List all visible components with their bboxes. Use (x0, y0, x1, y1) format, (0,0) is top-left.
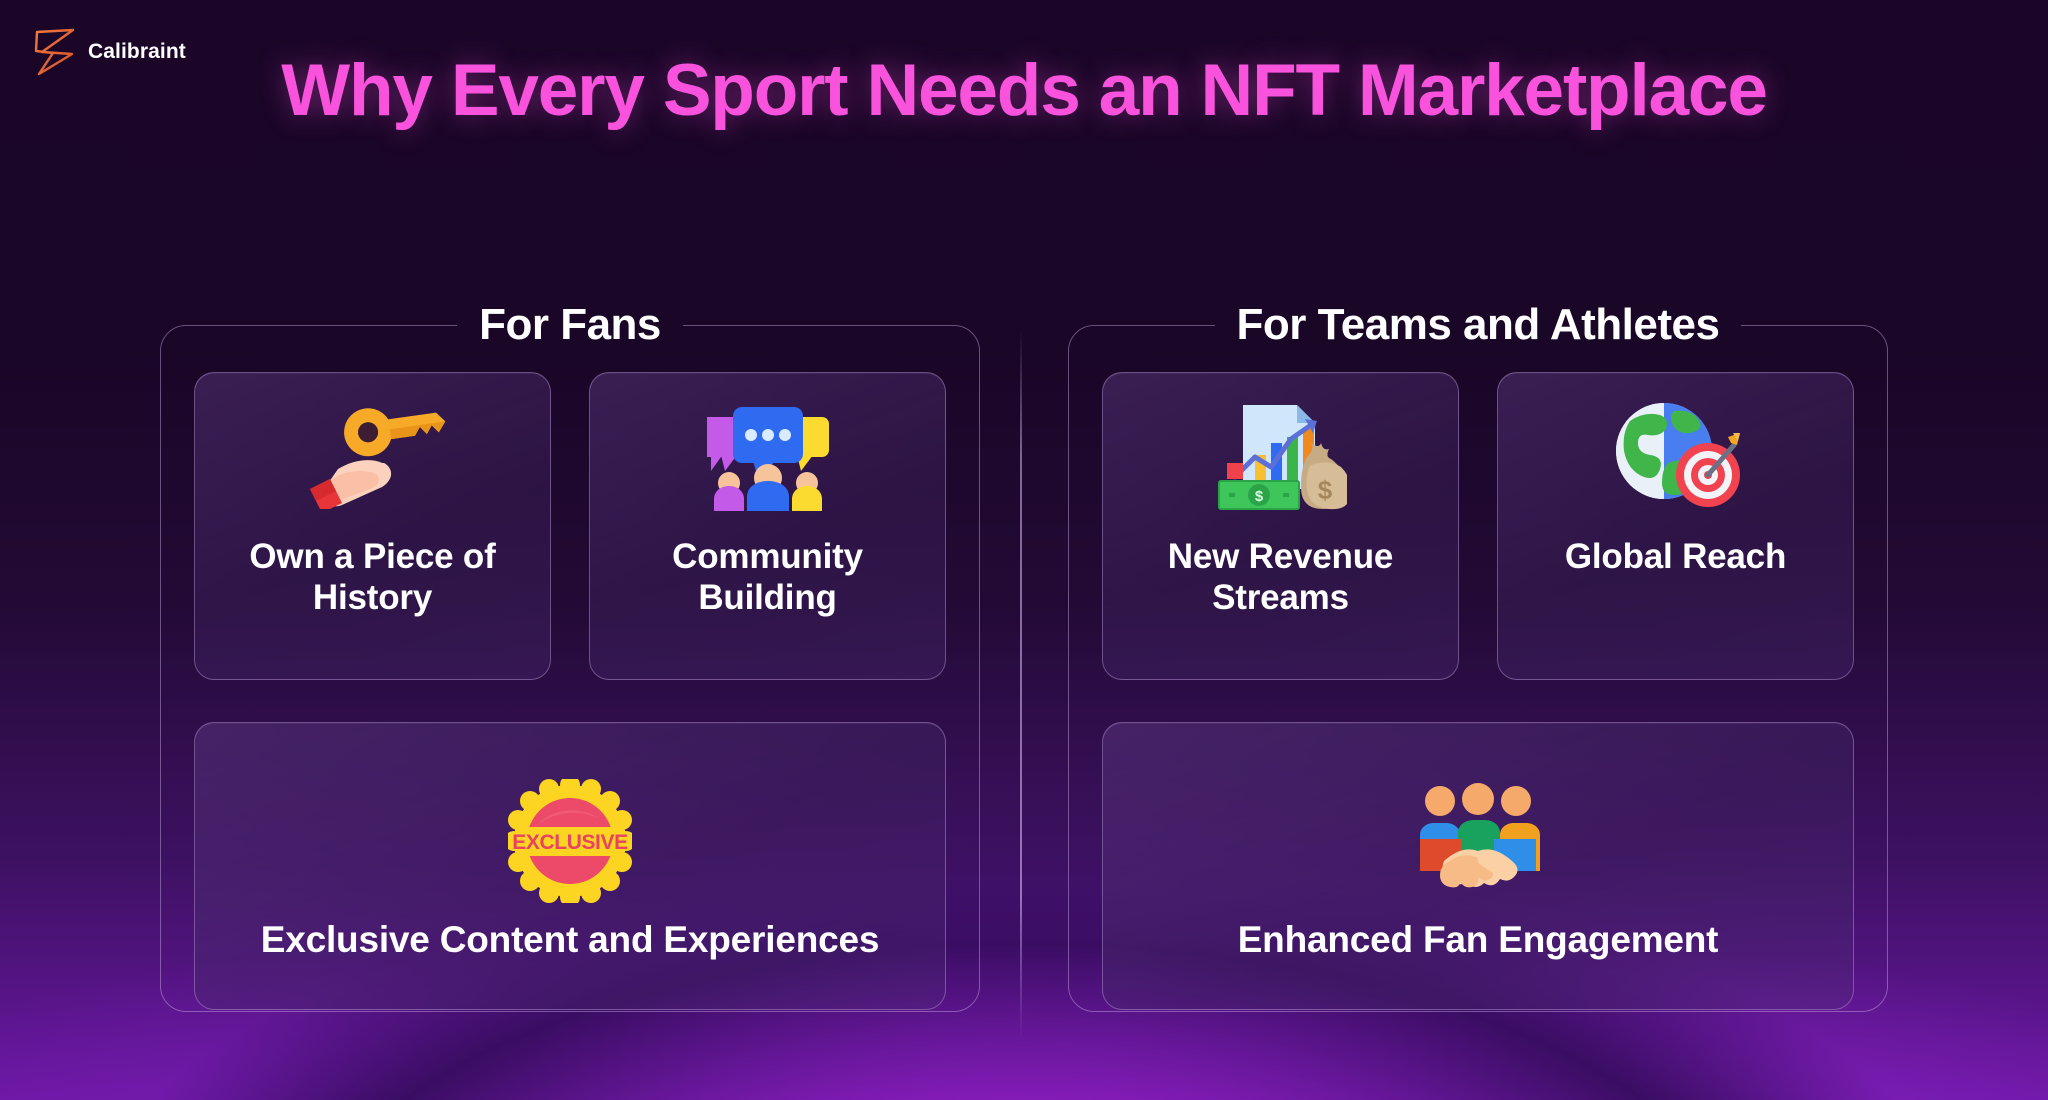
handshake-people-icon (1408, 777, 1548, 905)
card-label: Enhanced Fan Engagement (1238, 919, 1719, 962)
card-community-building[interactable]: Community Building (589, 372, 946, 680)
infographic-canvas: Calibraint Why Every Sport Needs an NFT … (0, 0, 2048, 1100)
svg-text:$: $ (1317, 475, 1332, 505)
panel-heading-for-fans: For Fans (457, 300, 683, 350)
card-enhanced-fan-engagement[interactable]: Enhanced Fan Engagement (1102, 722, 1854, 1010)
chart-money-icon: $ $ (1215, 399, 1347, 511)
for-fans-top-row: Own a Piece of History (187, 372, 953, 680)
card-new-revenue-streams[interactable]: $ $ New Revenue Streams (1102, 372, 1459, 680)
svg-text:EXCLUSIVE: EXCLUSIVE (512, 831, 628, 854)
card-label: Own a Piece of History (213, 537, 532, 618)
svg-text:$: $ (1254, 488, 1263, 505)
panels-container: For Fans (0, 300, 2048, 1060)
card-label: Exclusive Content and Experiences (261, 919, 880, 962)
speech-bubbles-people-icon (701, 399, 835, 511)
exclusive-badge-icon: EXCLUSIVE (508, 777, 632, 905)
globe-target-icon (1612, 399, 1740, 511)
brand-logo[interactable]: Calibraint (32, 28, 186, 76)
key-in-hand-icon (298, 399, 448, 511)
card-own-a-piece-of-history[interactable]: Own a Piece of History (194, 372, 551, 680)
calibraint-z-logo-icon (32, 28, 78, 76)
panel-heading-for-teams-and-athletes: For Teams and Athletes (1215, 300, 1742, 350)
for-teams-top-row: $ $ New Revenue Streams (1095, 372, 1861, 680)
card-label: Community Building (608, 537, 927, 618)
panel-for-teams-and-athletes: For Teams and Athletes (1068, 300, 1888, 1012)
brand-name: Calibraint (88, 40, 186, 64)
card-label: Global Reach (1565, 537, 1786, 578)
card-label: New Revenue Streams (1121, 537, 1440, 618)
card-exclusive-content-and-experiences[interactable]: EXCLUSIVE Exclusive Content and Experien… (194, 722, 946, 1010)
page-title: Why Every Sport Needs an NFT Marketplace (274, 52, 1774, 131)
panel-for-fans: For Fans (160, 300, 980, 1012)
card-global-reach[interactable]: Global Reach (1497, 372, 1854, 680)
